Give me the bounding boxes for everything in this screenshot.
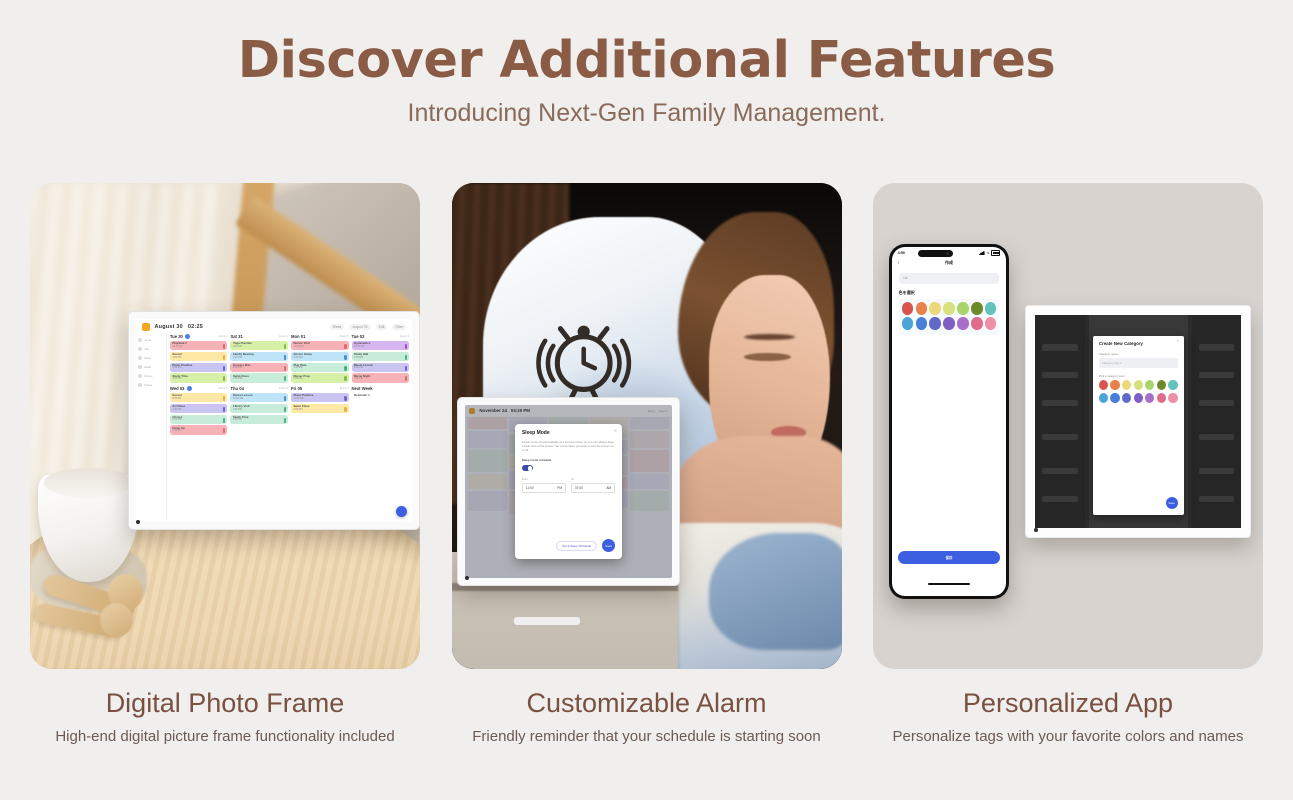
color-swatch[interactable] (1110, 393, 1119, 403)
battery-percent: 71 (987, 252, 990, 255)
event-time: 3:00 PM (293, 409, 346, 412)
card-media-digital-photo-frame: August 30 02:25 Week August 30 Edit Filt… (30, 183, 420, 669)
smartphone-device[interactable]: 4:55 71 ‹ 作成 Cat (889, 244, 1010, 599)
color-swatch[interactable] (1168, 393, 1177, 403)
calendar-week-row: Tue 30Event 4Playdate 210:00 AMSoccer1:0… (170, 334, 409, 384)
eyebrow (744, 334, 795, 340)
time-suffix: PM (557, 486, 562, 490)
close-icon[interactable]: ✕ (614, 428, 617, 433)
panel-line (1199, 496, 1235, 502)
sleep-mode-app: November 24 03:20 PM Menu Search ✕ (465, 405, 671, 579)
color-swatch[interactable] (1110, 380, 1119, 390)
time-range-fields: From 11:00 PM To (522, 478, 615, 493)
calendar-event[interactable]: Chores5:00 PM (170, 415, 228, 424)
toolbar-chip-date[interactable]: August 30 (349, 324, 370, 330)
panel-line (1042, 468, 1078, 474)
time-field-to[interactable]: To 07:00 AM (571, 478, 615, 493)
day-header: Fri 05Event 3 (291, 386, 349, 391)
calendar-day-column[interactable]: Tue 02Event 3Gymnastics10:30 AMStudy Hal… (352, 334, 410, 384)
today-badge (187, 386, 192, 391)
sidebar-item-icon (138, 356, 142, 360)
color-swatch[interactable] (1168, 380, 1177, 390)
calendar-toolbar-actions: Week August 30 Edit Filter (330, 324, 406, 330)
frame-screen[interactable]: August 30 02:25 Week August 30 Edit Filt… (136, 319, 413, 522)
sidebar-item-icon (138, 383, 142, 387)
color-section-label: 色を選択 (899, 290, 1000, 296)
color-swatch[interactable] (1099, 380, 1108, 390)
battery-icon (991, 250, 1000, 256)
scene-bedroom-night: November 24 03:20 PM Menu Search ✕ (452, 183, 842, 669)
event-accent (284, 396, 286, 401)
day-header: Thu 04Event 3 (230, 386, 288, 391)
calendar-event[interactable]: Yoga Practice9:00 AM (230, 341, 288, 350)
calendar-event[interactable]: Movie Night8:00 PM (352, 373, 410, 382)
calendar-day-column[interactable]: Wed 03Event 3Soccer9:30 AMArt Class1:30 … (170, 386, 228, 436)
frame-indicator-led (1034, 528, 1038, 532)
day-event-count: Event 3 (279, 335, 288, 338)
feature-card-digital-photo-frame[interactable]: August 30 02:25 Week August 30 Edit Filt… (30, 183, 420, 746)
color-swatch[interactable] (1122, 393, 1131, 403)
event-time: 8:00 PM (354, 378, 407, 381)
home-indicator (928, 583, 969, 585)
color-swatch[interactable] (916, 317, 927, 330)
card-caption-customizable-alarm: Customizable Alarm Friendly reminder tha… (452, 669, 842, 746)
calendar-event[interactable]: Library Visit2:00 PM (230, 404, 288, 413)
sidebar-item-label: Meals (144, 365, 151, 369)
day-event-count: Event 3 (400, 335, 409, 338)
color-swatch[interactable] (902, 317, 913, 330)
event-time: 6:00 PM (172, 378, 225, 381)
today-badge (185, 334, 190, 339)
event-accent (344, 396, 346, 401)
card-title: Personalized App (873, 689, 1263, 719)
day-header: Sat 31Event 3 (230, 334, 288, 339)
swatch-label: Pick a category color (1099, 374, 1178, 378)
event-accent (405, 396, 407, 400)
calendar-event[interactable]: Reminder 1 (352, 393, 410, 400)
day-header: Next Week (352, 386, 410, 391)
day-label: Next Week (352, 386, 373, 391)
field-label: Category name (1099, 352, 1178, 356)
right-panel (1192, 315, 1241, 528)
calendar-event[interactable]: Swim Class7:00 PM (230, 373, 288, 382)
panel-line (1042, 400, 1078, 406)
time-select[interactable]: 11:00 PM (522, 483, 566, 493)
event-accent (223, 376, 225, 381)
panel-line (1042, 372, 1078, 378)
event-time: 7:00 PM (233, 378, 286, 381)
event-accent (405, 366, 407, 371)
event-time: 5:00 PM (172, 419, 225, 422)
drawer-handle (514, 617, 580, 626)
calendar-event[interactable]: Music Lesson5:30 PM (352, 363, 410, 372)
scene-kitchen-table: August 30 02:25 Week August 30 Edit Filt… (30, 183, 420, 669)
event-accent (284, 407, 286, 412)
time-field-from[interactable]: From 11:00 PM (522, 478, 566, 493)
event-accent (344, 355, 346, 360)
frame-indicator-led (136, 520, 140, 524)
event-accent (284, 355, 286, 360)
calendar-event[interactable]: Family Meeting2:00 PM (230, 352, 288, 361)
calendar-event[interactable]: Study Time4:00 PM (230, 415, 288, 424)
dynamic-island (918, 250, 953, 257)
event-time: 9:00 AM (233, 346, 286, 349)
color-swatch[interactable] (985, 317, 996, 330)
calendar-event[interactable]: Soccer Game3:00 PM (291, 352, 349, 361)
calendar-event[interactable]: Study Hall2:30 PM (352, 352, 410, 361)
add-event-fab[interactable] (396, 506, 407, 517)
day-label: Thu 04 (230, 386, 244, 391)
day-label: Wed 03 (170, 386, 185, 391)
sidebar-item-label: Lists (144, 347, 150, 351)
color-swatch[interactable] (957, 317, 968, 330)
signal-icon (979, 251, 985, 255)
panel-line (1199, 468, 1235, 474)
panel-line (1042, 344, 1078, 350)
event-time: 10:00 AM (233, 398, 286, 401)
dialog-description: Screen turns off automatically at a set … (522, 440, 615, 453)
set-sleep-schedule-button[interactable]: Set a Sleep Schedule (556, 541, 597, 551)
calendar-app: August 30 02:25 Week August 30 Edit Filt… (136, 319, 413, 522)
frame-screen[interactable]: November 24 03:20 PM Menu Search ✕ (465, 405, 671, 579)
color-swatch[interactable] (971, 317, 982, 330)
color-swatch[interactable] (1099, 393, 1108, 403)
event-time: 5:00 PM (233, 367, 286, 370)
sleep-mode-dialog[interactable]: ✕ Sleep Mode Screen turns off automatica… (515, 424, 622, 559)
panel-line (1042, 434, 1078, 440)
day-event-count: Event 3 (219, 387, 228, 390)
event-accent (223, 366, 225, 371)
calendar-sidebar: HomeListsNotesMealsChoresPhotos (136, 333, 167, 520)
sidebar-item-label: Chores (144, 374, 153, 378)
event-time: 1:00 PM (172, 357, 225, 360)
field-label: To (571, 478, 615, 481)
panel-line (1199, 400, 1235, 406)
toolbar-chip-week[interactable]: Week (330, 324, 345, 330)
day-header: Wed 03Event 3 (170, 386, 228, 391)
sidebar-item-meals[interactable]: Meals (136, 362, 166, 371)
frame-indicator-led (465, 576, 469, 580)
calendar-event[interactable]: Dance Lesson10:00 AM (230, 393, 288, 402)
phone-nav-bar: ‹ 作成 (892, 258, 1007, 269)
event-accent (223, 344, 225, 349)
color-swatch[interactable] (985, 302, 996, 315)
day-label: Mon 01 (291, 334, 305, 339)
blue-blanket (709, 533, 842, 650)
event-time: 10:00 AM (172, 346, 225, 349)
event-time: 2:30 PM (354, 357, 407, 360)
event-time: 2:00 PM (233, 409, 286, 412)
event-accent (344, 366, 346, 371)
sidebar-item-label: Home (144, 338, 151, 342)
digital-photo-frame-device[interactable]: August 30 02:25 Week August 30 Edit Filt… (128, 311, 421, 530)
calendar-event[interactable]: Piano Practice11:00 AM (291, 393, 349, 402)
calendar-event[interactable]: Play Date4:30 PM (291, 363, 349, 372)
calendar-day-column[interactable]: Tue 30Event 4Playdate 210:00 AMSoccer1:0… (170, 334, 228, 384)
day-label: Sat 31 (230, 334, 242, 339)
digital-photo-frame-device[interactable]: November 24 03:20 PM Menu Search ✕ (457, 397, 679, 587)
create-category-dialog[interactable]: ✕ Create New Category Category name Cate… (1093, 336, 1184, 515)
calendar-day-column[interactable]: Sat 31Event 3Yoga Practice9:00 AMFamily … (230, 334, 288, 384)
day-header: Mon 01Event 4 (291, 334, 349, 339)
card-media-customizable-alarm: November 24 03:20 PM Menu Search ✕ (452, 183, 842, 669)
card-title: Customizable Alarm (452, 689, 842, 719)
sidebar-item-home[interactable]: Home (136, 335, 166, 344)
save-button[interactable]: Save (602, 539, 615, 552)
day-label: Tue 30 (170, 334, 183, 339)
calendar-event[interactable]: Soccer9:30 AM (170, 393, 228, 402)
calendar-day-column[interactable]: Thu 04Event 3Dance Lesson10:00 AMLibrary… (230, 386, 288, 436)
field-label: From (522, 478, 566, 481)
page-title: Discover Additional Features (0, 34, 1293, 88)
event-accent (223, 407, 225, 412)
sidebar-item-icon (138, 347, 142, 351)
color-swatch[interactable] (1134, 393, 1143, 403)
dialog-title: Sleep Mode (522, 430, 615, 436)
event-accent (223, 428, 225, 433)
event-accent (223, 396, 225, 401)
calendar-event[interactable]: Gymnastics10:30 AM (352, 341, 410, 350)
swatch-row (1099, 393, 1178, 403)
color-swatch[interactable] (929, 317, 940, 330)
event-accent (284, 344, 286, 349)
sidebar-item-notes[interactable]: Notes (136, 353, 166, 362)
calendar-event[interactable]: Swim Class3:00 PM (291, 404, 349, 413)
card-title: Digital Photo Frame (30, 689, 420, 719)
frame-screen[interactable]: ✕ Create New Category Category name Cate… (1035, 315, 1241, 528)
calendar-event[interactable]: Soccer1:00 PM (170, 352, 228, 361)
event-title: Reminder 1 (354, 394, 407, 397)
event-time: 1:30 PM (172, 409, 225, 412)
day-event-count: Event 3 (340, 387, 349, 390)
day-event-count: Event 3 (279, 387, 288, 390)
event-accent (284, 418, 286, 423)
card-description: Personalize tags with your favorite colo… (873, 728, 1263, 746)
sidebar-item-label: Photos (144, 383, 153, 387)
event-time: 6:30 PM (293, 378, 346, 381)
color-swatch[interactable] (902, 302, 913, 315)
calendar-grid: Tue 30Event 4Playdate 210:00 AMSoccer1:0… (167, 333, 412, 520)
event-time: 7:00 PM (172, 430, 225, 433)
panel-line (1199, 344, 1235, 350)
day-label: Tue 02 (352, 334, 365, 339)
event-accent (344, 376, 346, 381)
event-accent (344, 407, 346, 412)
color-swatch[interactable] (957, 302, 968, 315)
event-time: 4:00 PM (172, 367, 225, 370)
category-name-input[interactable]: Category Name (1099, 358, 1178, 368)
sidebar-item-icon (138, 338, 142, 342)
save-button[interactable]: Save (1166, 497, 1178, 509)
calendar-toolbar: August 30 02:25 Week August 30 Edit Filt… (136, 319, 413, 333)
dialog-actions: Set a Sleep Schedule Save (556, 539, 615, 552)
time-value: 11:00 (526, 486, 534, 490)
calendar-event[interactable]: Study Time6:00 PM (170, 373, 228, 382)
left-panel (1035, 315, 1084, 528)
calendar-day-column[interactable]: Fri 05Event 3Piano Practice11:00 AMSwim … (291, 386, 349, 436)
time-suffix: AM (606, 486, 611, 490)
feature-card-row: August 30 02:25 Week August 30 Edit Filt… (0, 183, 1293, 746)
phone-status-bar: 4:55 71 (892, 247, 1007, 258)
day-label: Fri 05 (291, 386, 302, 391)
toolbar-chip-filter[interactable]: Filter (392, 324, 406, 330)
color-swatch[interactable] (971, 302, 982, 315)
calendar-event[interactable]: Grocery Run5:00 PM (230, 363, 288, 372)
panel-line (1199, 372, 1235, 378)
calendar-event[interactable]: Doctor Visit11:00 AM (291, 341, 349, 350)
event-time: 9:30 AM (172, 398, 225, 401)
event-time: 11:00 AM (293, 346, 346, 349)
page-header: Discover Additional Features Introducing… (0, 0, 1293, 127)
app-logo-icon (142, 323, 150, 331)
panel-line (1199, 434, 1235, 440)
feature-card-customizable-alarm[interactable]: November 24 03:20 PM Menu Search ✕ (452, 183, 842, 746)
closed-eye (744, 353, 791, 361)
color-swatch[interactable] (1145, 380, 1154, 390)
event-accent (284, 366, 286, 371)
color-swatch-grid[interactable] (1099, 380, 1178, 403)
calendar-date: August 30 (155, 324, 183, 330)
panel-line (1042, 496, 1078, 502)
sidebar-item-icon (138, 365, 142, 369)
color-swatch[interactable] (1157, 380, 1166, 390)
swatch-row (902, 317, 997, 330)
day-event-count: Event 4 (219, 335, 228, 338)
calendar-day-column[interactable]: Mon 01Event 4Doctor Visit11:00 AMSoccer … (291, 334, 349, 384)
nav-title: 作成 (892, 260, 1007, 266)
close-icon[interactable]: ✕ (1177, 339, 1180, 343)
event-time: 11:00 AM (293, 398, 346, 401)
calendar-time: 02:25 (188, 324, 203, 330)
calendar-week-row: Wed 03Event 3Soccer9:30 AMArt Class1:30 … (170, 386, 409, 436)
card-media-personalized-app: 4:55 71 ‹ 作成 Cat (873, 183, 1263, 669)
page-subtitle: Introducing Next-Gen Family Management. (0, 100, 1293, 128)
time-value: 07:00 (575, 486, 583, 490)
color-swatch[interactable] (929, 302, 940, 315)
sidebar-item-photos[interactable]: Photos (136, 380, 166, 389)
color-swatch-grid[interactable] (899, 299, 1000, 336)
dialog-title: Create New Category (1099, 341, 1178, 346)
sleep-mode-toggle[interactable] (522, 465, 533, 471)
card-caption-digital-photo-frame: Digital Photo Frame High-end digital pic… (30, 669, 420, 746)
color-swatch[interactable] (943, 302, 954, 315)
event-accent (405, 355, 407, 360)
phone-screen[interactable]: 4:55 71 ‹ 作成 Cat (892, 247, 1007, 596)
event-time: 10:30 AM (354, 346, 407, 349)
category-name-input[interactable]: Cat (899, 273, 1000, 284)
card-caption-personalized-app: Personalized App Personalize tags with y… (873, 669, 1263, 746)
time-select[interactable]: 07:00 AM (571, 483, 615, 493)
event-accent (223, 355, 225, 360)
event-accent (344, 344, 346, 349)
event-time: 3:00 PM (293, 357, 346, 360)
swatch-row (1099, 380, 1178, 390)
status-time: 4:55 (898, 251, 905, 255)
toolbar-chip-edit[interactable]: Edit (376, 324, 388, 330)
toggle-label: Sleep mode schedule (522, 458, 615, 462)
calendar-event[interactable]: Dinner Prep6:30 PM (291, 373, 349, 382)
save-button[interactable]: 保存 (898, 551, 999, 564)
color-swatch[interactable] (1145, 393, 1154, 403)
swatch-row (902, 302, 997, 315)
color-swatch[interactable] (1122, 380, 1131, 390)
color-swatch[interactable] (1157, 393, 1166, 403)
event-time: 4:30 PM (293, 367, 346, 370)
sidebar-item-lists[interactable]: Lists (136, 344, 166, 353)
calendar-event[interactable]: Playdate 210:00 AM (170, 341, 228, 350)
sidebar-item-label: Notes (144, 356, 151, 360)
sidebar-item-icon (138, 374, 142, 378)
color-swatch[interactable] (943, 317, 954, 330)
event-accent (284, 376, 286, 381)
event-accent (405, 344, 407, 349)
status-indicators: 71 (979, 250, 1001, 256)
calendar-event[interactable]: Piano Practice4:00 PM (170, 363, 228, 372)
event-time: 4:00 PM (233, 419, 286, 422)
sidebar-item-chores[interactable]: Chores (136, 371, 166, 380)
calendar-day-column[interactable]: Next WeekReminder 1 (352, 386, 410, 436)
calendar-event[interactable]: Clean Up7:00 PM (170, 425, 228, 434)
calendar-event[interactable]: Art Class1:30 PM (170, 404, 228, 413)
calendar-body: HomeListsNotesMealsChoresPhotos Tue 30Ev… (136, 333, 413, 520)
event-time: 5:30 PM (354, 367, 407, 370)
card-description: High-end digital picture frame functiona… (30, 728, 420, 746)
color-swatch[interactable] (1134, 380, 1143, 390)
event-time: 2:00 PM (233, 357, 286, 360)
day-header: Tue 02Event 3 (352, 334, 410, 339)
event-accent (405, 376, 407, 381)
day-header: Tue 30Event 4 (170, 334, 228, 339)
day-event-count: Event 4 (340, 335, 349, 338)
event-accent (223, 418, 225, 423)
feature-card-personalized-app[interactable]: 4:55 71 ‹ 作成 Cat (873, 183, 1263, 746)
color-swatch[interactable] (916, 302, 927, 315)
card-description: Friendly reminder that your schedule is … (452, 728, 842, 746)
digital-photo-frame-device[interactable]: ✕ Create New Category Category name Cate… (1025, 305, 1251, 538)
scene-studio-grey: 4:55 71 ‹ 作成 Cat (873, 183, 1263, 669)
